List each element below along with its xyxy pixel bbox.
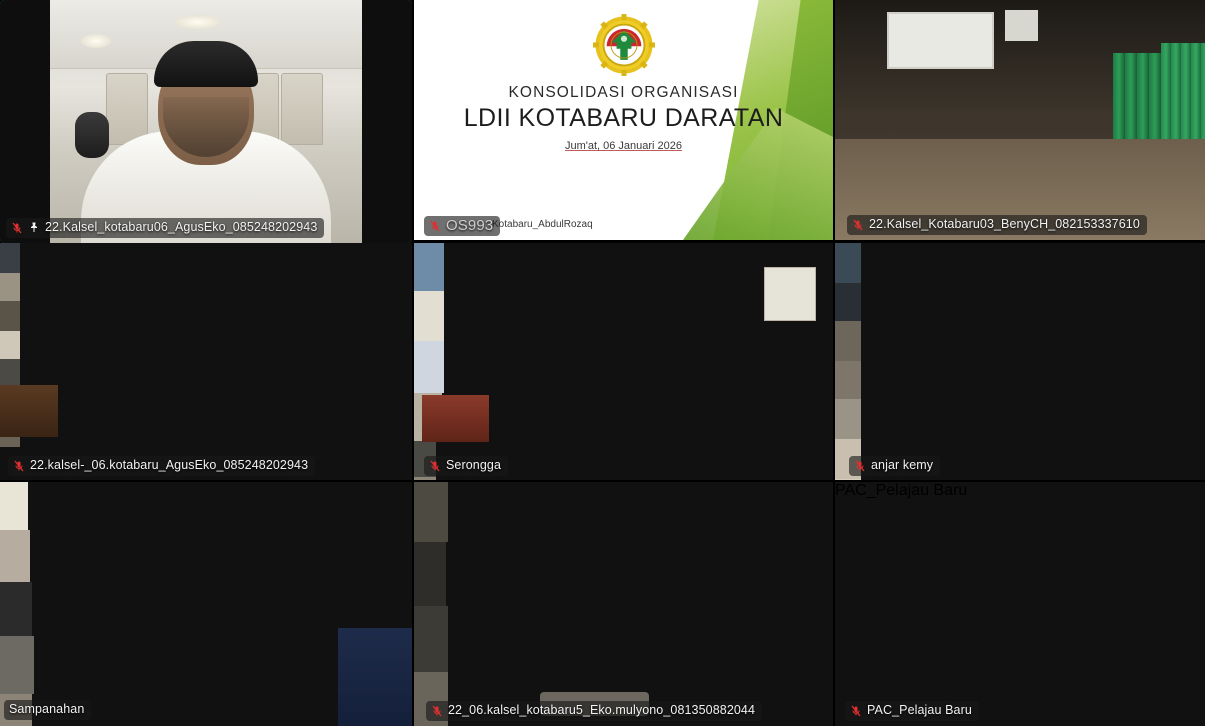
participant-name-text-2: Kotabaru_AbdulRozaq	[492, 219, 593, 230]
participant-name-text: PAC_Pelajau Baru	[867, 703, 972, 718]
slide-heading: KONSOLIDASI ORGANISASI	[414, 84, 833, 102]
mic-off-icon	[429, 459, 441, 473]
spotlight-text: PAC_Pelajau Baru	[835, 482, 1205, 500]
mic-off-icon	[13, 459, 25, 473]
video-feed-2: KONSOLIDASI ORGANISASI LDII KOTABARU DAR…	[414, 0, 833, 240]
video-tile-7[interactable]: Sampanahan	[0, 482, 412, 726]
participant-name-label-4: 22.kalsel-_06.kotabaru_AgusEko_085248202…	[8, 456, 315, 476]
participant-name-label-8: 22_06.kalsel_kotabaru5_Eko.mulyono_08135…	[426, 701, 762, 721]
slide-title: LDII KOTABARU DARATAN	[414, 104, 833, 133]
slide-date: Jum'at, 06 Januari 2026	[414, 140, 833, 152]
participant-name-label-9: PAC_Pelajau Baru	[845, 701, 979, 721]
participant-name-label-2: OS993	[424, 216, 500, 236]
meeting-gallery-stage: 22.Kalsel_kotabaru06_AgusEko_08524820294…	[0, 0, 1205, 726]
mic-off-icon	[429, 219, 441, 233]
overlay-badge-text: OS993	[446, 218, 493, 233]
video-tile-6[interactable]: anjar kemy	[835, 243, 1205, 480]
participant-name-label-1: 22.Kalsel_kotabaru06_AgusEko_08524820294…	[6, 218, 324, 238]
mic-off-icon	[11, 221, 23, 235]
video-tile-2[interactable]: KONSOLIDASI ORGANISASI LDII KOTABARU DAR…	[414, 0, 833, 240]
mic-off-icon	[852, 218, 864, 232]
participant-name-label-6: anjar kemy	[849, 456, 940, 476]
participant-name-label-7: Sampanahan	[4, 700, 91, 720]
participant-name-text: 22.Kalsel_Kotabaru03_BenyCH_082153337610	[869, 217, 1140, 232]
video-feed-4	[0, 243, 412, 480]
participant-name-text: 22_06.kalsel_kotabaru5_Eko.mulyono_08135…	[448, 703, 755, 718]
mic-off-icon	[431, 704, 443, 718]
shared-screen-slide: KONSOLIDASI ORGANISASI LDII KOTABARU DAR…	[414, 0, 833, 240]
participant-name-label-3: 22.Kalsel_Kotabaru03_BenyCH_082153337610	[847, 215, 1147, 235]
video-feed-8	[414, 482, 833, 726]
video-feed-6	[835, 243, 1205, 480]
video-tile-8[interactable]: 22_06.kalsel_kotabaru5_Eko.mulyono_08135…	[414, 482, 833, 726]
video-tile-1[interactable]: 22.Kalsel_kotabaru06_AgusEko_08524820294…	[0, 0, 412, 243]
video-feed-3	[835, 0, 1205, 240]
mic-off-icon	[854, 459, 866, 473]
video-feed-1	[0, 0, 412, 243]
participant-name-text: 22.kalsel-_06.kotabaru_AgusEko_085248202…	[30, 458, 308, 473]
video-tile-5[interactable]: Serongga	[414, 243, 833, 480]
participant-name-text: Serongga	[446, 458, 501, 473]
video-feed-7	[0, 482, 412, 726]
participant-name-text: Sampanahan	[9, 702, 84, 717]
video-feed-5	[414, 243, 833, 480]
participant-name-label-5: Serongga	[424, 456, 508, 476]
pin-icon	[28, 221, 40, 234]
participant-name-text: 22.Kalsel_kotabaru06_AgusEko_08524820294…	[45, 220, 317, 235]
video-tile-3[interactable]: 22.Kalsel_Kotabaru03_BenyCH_082153337610	[835, 0, 1205, 240]
participant-name-text: anjar kemy	[871, 458, 933, 473]
video-tile-4[interactable]: 22.kalsel-_06.kotabaru_AgusEko_085248202…	[0, 243, 412, 480]
mic-off-icon	[850, 704, 862, 718]
video-tile-9[interactable]: PAC_Pelajau Baru PAC_Pelajau Baru	[835, 482, 1205, 726]
video-feed-9: PAC_Pelajau Baru	[835, 482, 1205, 726]
ldii-emblem-logo	[593, 14, 655, 76]
